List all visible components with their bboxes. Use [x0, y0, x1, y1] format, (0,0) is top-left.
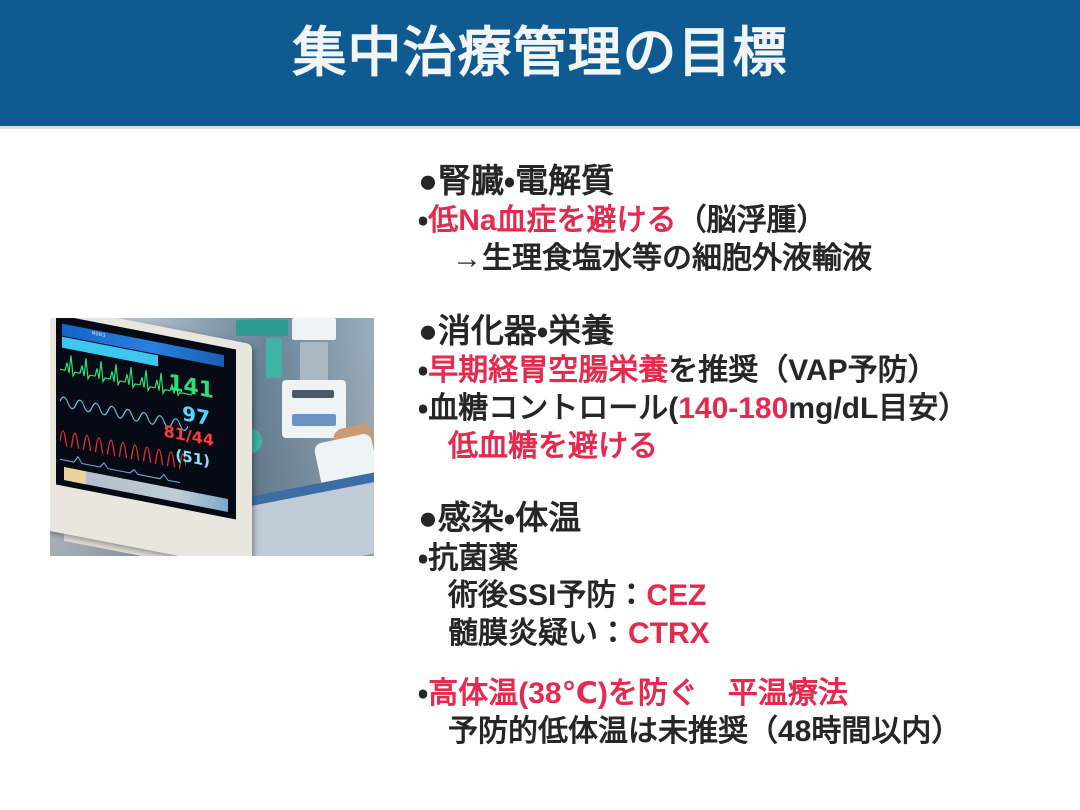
- line-part: 髄膜炎疑い：: [448, 617, 628, 650]
- monitor-screen: MON3 141 97 81/44 (51): [56, 318, 236, 519]
- line-part: ・血糖コントロール(: [418, 392, 678, 425]
- section-heading: ●腎臓・電解質: [418, 160, 1068, 202]
- line-gap: [418, 653, 1068, 675]
- section-heading: ●感染・体温: [418, 497, 1068, 539]
- content-column: ●腎臓・電解質 ・低Na血症を避ける（脳浮腫） →生理食塩水等の細胞外液輸液 ●…: [418, 160, 1068, 753]
- line-part: CEZ: [646, 579, 706, 612]
- bullet-line: 術後SSI予防：CEZ: [418, 577, 1068, 615]
- line-part: 術後SSI予防：: [448, 579, 646, 612]
- line-part: 低血糖を避ける: [448, 430, 658, 463]
- line-part: 低Na血症を避ける: [428, 204, 676, 237]
- line-part: 早期経胃空腸栄養: [428, 354, 668, 387]
- line-part: CTRX: [628, 617, 710, 650]
- bullet-line: ・血糖コントロール(140-180mg/dL目安）: [418, 390, 1068, 428]
- line-part: ・: [418, 354, 428, 387]
- line-part: ・抗菌薬: [418, 542, 518, 575]
- bullet-line: ・低Na血症を避ける（脳浮腫）: [418, 202, 1068, 240]
- equipment-block: [236, 320, 288, 336]
- line-part: ・: [418, 677, 428, 710]
- monitor-heart-rate: 141: [168, 372, 214, 403]
- page-title: 集中治療管理の目標: [0, 22, 1080, 84]
- monitor-alarm-key: [64, 467, 86, 484]
- photo-background: MON3 141 97 81/44 (51): [50, 318, 374, 556]
- bullet-line: 低血糖を避ける: [418, 428, 1068, 466]
- equipment-block: [292, 318, 336, 340]
- line-part: 高体温(38℃)を防ぐ 平温療法: [428, 677, 848, 710]
- line-part: mg/dL目安）: [788, 392, 968, 425]
- monitor-spo2: 97: [182, 403, 210, 428]
- section-infection-temperature: ●感染・体温 ・抗菌薬 術後SSI予防：CEZ 髄膜炎疑い：CTRX ・高体温(…: [418, 497, 1068, 750]
- line-part: →生理食塩水等の細胞外液輸液: [452, 242, 872, 275]
- section-gi-nutrition: ●消化器・栄養 ・早期経胃空腸栄養を推奨（VAP予防） ・血糖コントロール(14…: [418, 310, 1068, 466]
- section-kidney-electrolytes: ●腎臓・電解質 ・低Na血症を避ける（脳浮腫） →生理食塩水等の細胞外液輸液: [418, 160, 1068, 278]
- icu-monitor-photo: MON3 141 97 81/44 (51): [50, 318, 374, 556]
- section-heading: ●消化器・栄養: [418, 310, 1068, 352]
- header-divider: [0, 126, 1080, 129]
- line-part: 予防的低体温は未推奨（48時間以内）: [448, 715, 961, 748]
- section-gap: [418, 280, 1068, 310]
- bullet-line: ・抗菌薬: [418, 540, 1068, 578]
- bullet-line: ・早期経胃空腸栄養を推奨（VAP予防）: [418, 352, 1068, 390]
- bullet-line: →生理食塩水等の細胞外液輸液: [418, 240, 1068, 278]
- equipment-block: [266, 338, 282, 378]
- bullet-line: 髄膜炎疑い：CTRX: [418, 615, 1068, 653]
- line-part: 140-180: [678, 392, 788, 425]
- section-gap: [418, 467, 1068, 497]
- line-part: （脳浮腫）: [677, 204, 827, 237]
- bullet-line: 予防的低体温は未推奨（48時間以内）: [418, 713, 1068, 751]
- equipment-block: [292, 390, 334, 398]
- bullet-line: ・高体温(38℃)を防ぐ 平温療法: [418, 675, 1068, 713]
- line-part: ・: [418, 204, 428, 237]
- line-part: を推奨（VAP予防）: [668, 354, 937, 387]
- equipment-panel: [282, 380, 346, 438]
- equipment-block: [292, 414, 336, 426]
